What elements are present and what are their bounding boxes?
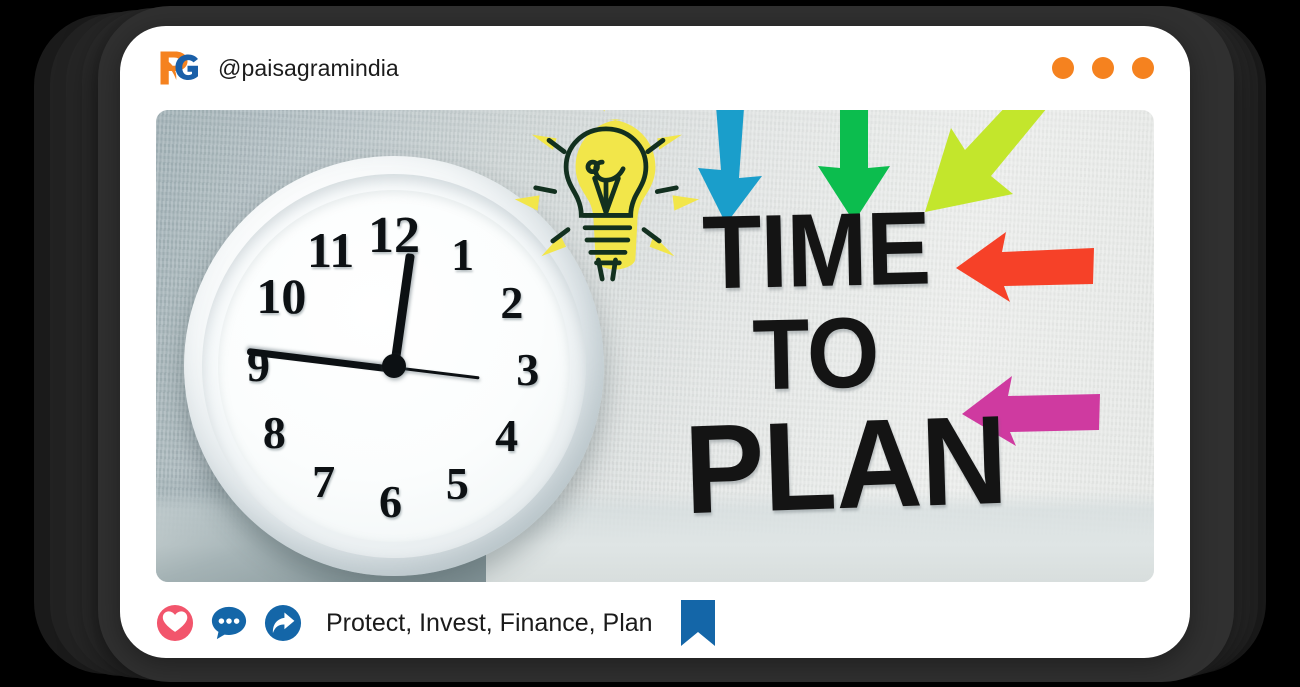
headline-line-3: PLAN	[683, 405, 1008, 526]
headline-line-2: TO	[752, 309, 879, 400]
clock-numeral-5: 5	[446, 461, 469, 507]
post-header: @paisagramindia	[120, 26, 1190, 110]
pg-monogram-logo	[156, 47, 204, 89]
comment-bubble-icon[interactable]	[210, 604, 248, 642]
post-image[interactable]: 12 1 2 3 4 5 6 7 8 9 10 11	[156, 110, 1154, 582]
clock-numeral-7: 7	[312, 459, 335, 505]
lightbulb-cutout	[511, 110, 701, 298]
clock-numeral-6: 6	[379, 479, 402, 525]
clock-numeral-8: 8	[263, 410, 286, 456]
clock-numeral-4: 4	[495, 413, 518, 459]
menu-dot	[1092, 57, 1114, 79]
menu-dot	[1052, 57, 1074, 79]
arrow-left-red	[956, 228, 1096, 304]
clock-numeral-3: 3	[516, 347, 539, 393]
share-arrow-icon[interactable]	[264, 604, 302, 642]
bookmark-icon[interactable]	[681, 600, 715, 646]
clock-numeral-11: 11	[307, 225, 354, 275]
account-handle: @paisagramindia	[218, 55, 399, 82]
menu-dot	[1132, 57, 1154, 79]
clock-numeral-10: 10	[256, 271, 306, 321]
post-card: @paisagramindia 12 1 2 3	[120, 26, 1190, 658]
clock-second-hand	[394, 366, 480, 379]
headline-line-1: TIME	[702, 203, 931, 300]
brand-block[interactable]: @paisagramindia	[156, 47, 399, 89]
clock-center-hub	[382, 354, 406, 378]
arrow-diag-lime	[921, 110, 1051, 232]
post-action-bar: Protect, Invest, Finance, Plan	[156, 594, 1154, 652]
screenshot-stage: @paisagramindia 12 1 2 3	[0, 0, 1300, 687]
heart-icon[interactable]	[156, 604, 194, 642]
clock-numeral-1: 1	[451, 232, 474, 278]
three-dots-icon[interactable]	[1052, 57, 1154, 79]
post-caption: Protect, Invest, Finance, Plan	[326, 609, 653, 638]
